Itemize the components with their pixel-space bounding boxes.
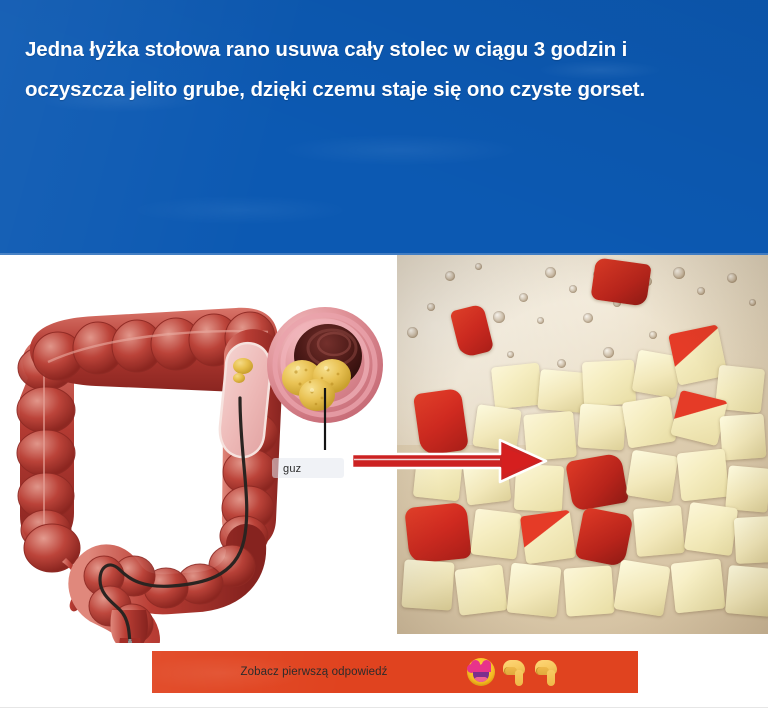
foam-bubble [649,331,657,339]
foam-bubble [727,273,737,283]
foam-bubble [407,327,418,338]
apple-cube [491,363,543,410]
apple-cube-with-skin [520,510,576,564]
foam-bubble [583,313,593,323]
cta-label: Zobacz pierwszą odpowiedź [241,666,388,678]
apple-cube [725,565,768,617]
foam-bubble [427,303,435,311]
foam-bubble [493,311,505,323]
apple-cube [582,360,636,407]
foam-bubble [537,317,544,324]
apple-cube [720,414,767,461]
apple-cube [684,502,738,556]
bottom-divider [0,707,768,708]
foam-bubble [569,285,577,293]
see-first-answer-button[interactable]: Zobacz pierwszą odpowiedź [152,651,638,693]
apple-cube [734,516,768,564]
cta-emoji-group [467,658,559,686]
foam-bubble [475,263,482,270]
smiling-face-with-heart-eyes-icon [467,658,495,686]
apple-cube [622,396,677,449]
foam-bubble [445,271,455,281]
apple-cube [725,465,768,512]
apple-cube [677,449,730,502]
apple-cube [401,559,454,610]
foam-bubble [507,351,514,358]
headline-banner: Jedna łyżka stołowa rano usuwa cały stol… [0,0,768,255]
apple-skin-piece [590,257,651,306]
page-title: Jedna łyżka stołowa rano usuwa cały stol… [25,30,725,110]
foam-bubble [557,359,566,368]
backhand-index-pointing-down-icon [503,658,527,686]
apple-cube [454,564,507,616]
apple-cube [470,508,521,559]
apple-cube [626,450,679,503]
apple-skin-piece [404,502,472,564]
backhand-index-pointing-down-icon [535,658,559,686]
foam-bubble [673,267,685,279]
page-root: Jedna łyżka stołowa rano usuwa cały stol… [0,0,768,713]
guz-label: guz [283,463,301,475]
foam-bubble [749,299,756,306]
red-right-arrow [350,437,550,485]
apple-skin-piece [565,453,629,512]
apple-cube [633,505,685,557]
apple-cube [563,565,614,616]
foam-bubble [545,267,556,278]
apple-cube [578,403,627,450]
apple-cube [537,369,586,413]
apple-cube [613,559,670,616]
cross-section-closeup [262,300,392,450]
cross-section-closeup [324,627,330,633]
foam-bubble [603,347,614,358]
apple-cube [671,559,726,614]
foam-bubble [519,293,528,302]
apple-cube [507,563,562,618]
sigmoid-rectum [84,544,255,643]
foam-bubble [697,287,705,295]
